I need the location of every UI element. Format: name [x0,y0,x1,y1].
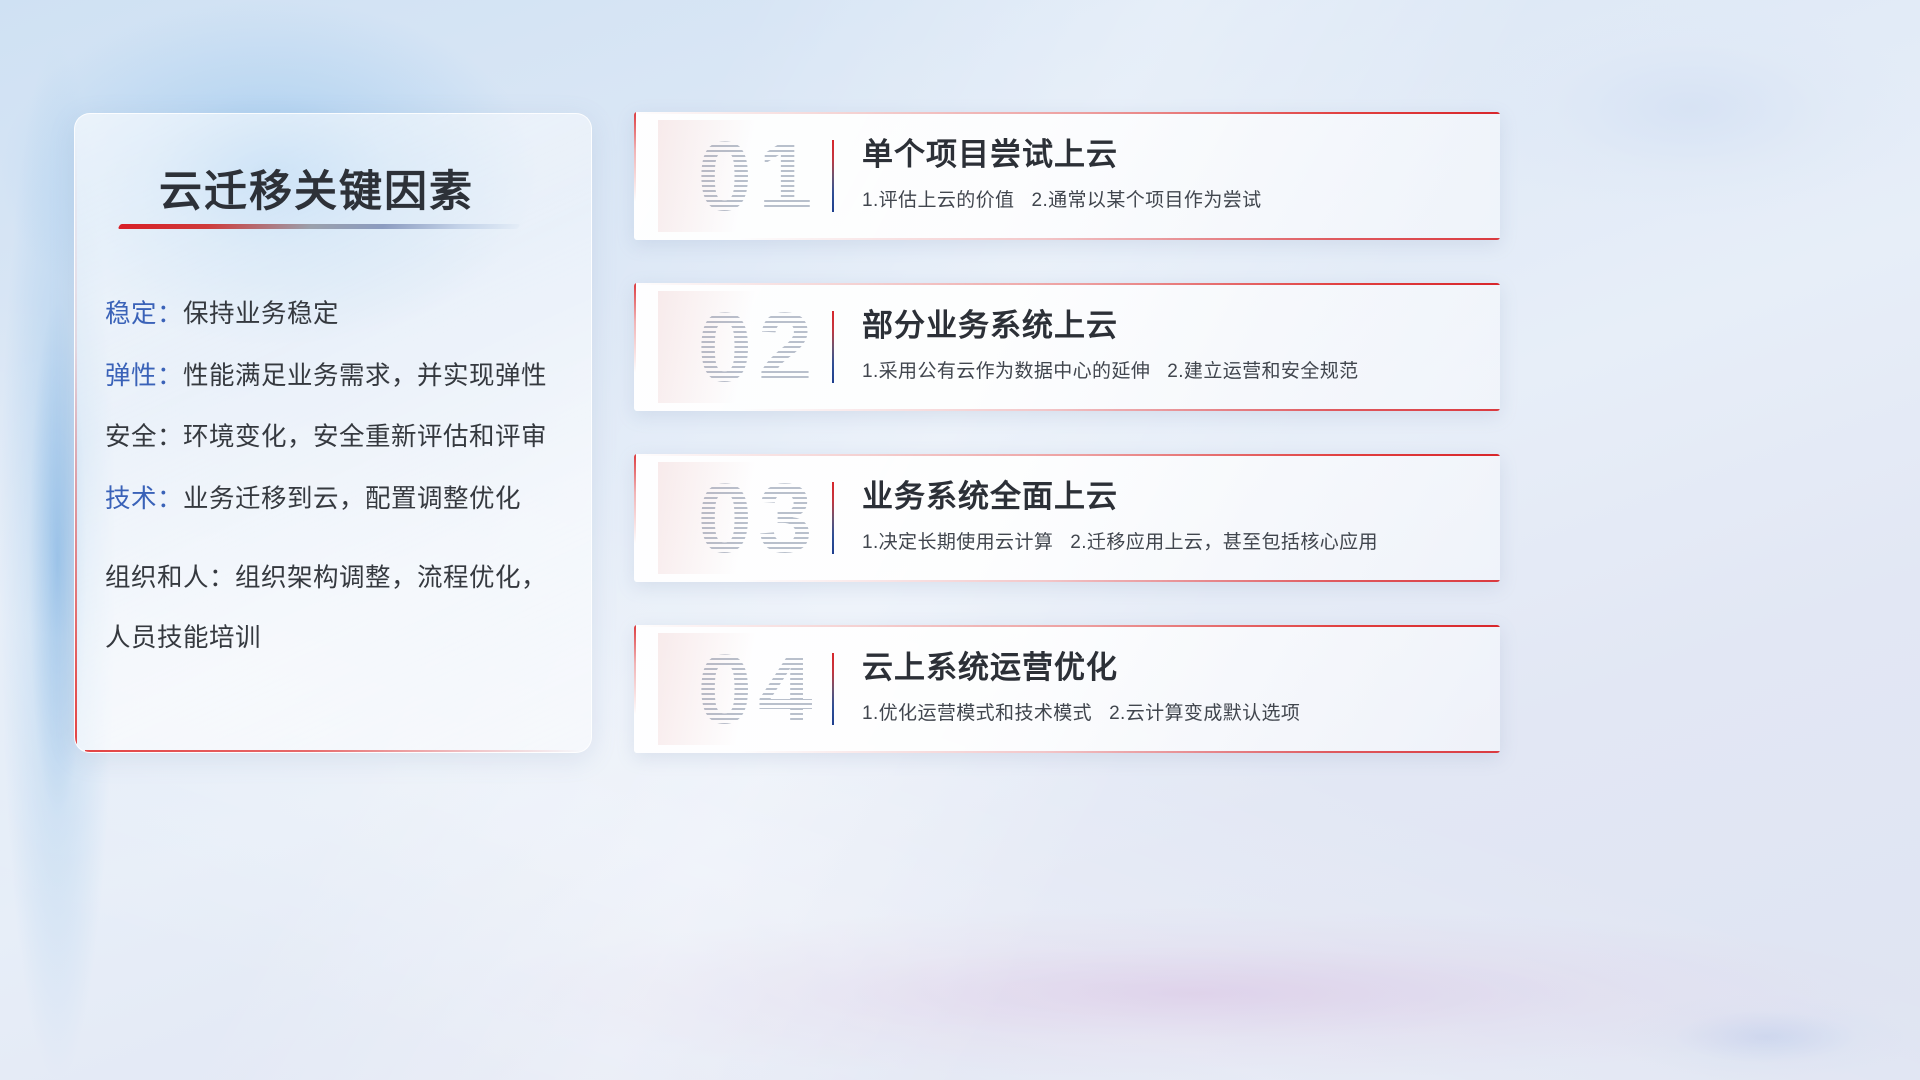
card-title: 业务系统全面上云 [862,478,1472,517]
page-title: 云迁移关键因素 [159,157,474,219]
card-bottom-accent-bar [738,580,1500,582]
card-bottom-accent-bar [738,238,1500,240]
stage-card-03[interactable]: 03 业务系统全面上云 1.决定长期使用云计算 2.迁移应用上云，甚至包括核心应… [634,454,1500,582]
card-title: 部分业务系统上云 [862,307,1472,346]
card-title: 云上系统运营优化 [862,649,1472,688]
card-bottom-accent-bar [738,751,1500,753]
card-divider-bar [832,140,834,212]
card-body: 云上系统运营优化 1.优化运营模式和技术模式 2.云计算变成默认选项 [862,649,1472,725]
card-number-watermark: 01 [658,120,858,232]
factor-label-security: 安全： [105,423,183,451]
card-top-accent-bar [634,112,1500,114]
factor-text-stability: 保持业务稳定 [183,300,339,328]
card-number-watermark: 04 [658,633,858,745]
card-subtitle: 1.优化运营模式和技术模式 2.云计算变成默认选项 [862,698,1472,725]
panel-left-accent-bar [75,128,77,752]
card-bottom-accent-bar [738,409,1500,411]
factor-text-elasticity: 性能满足业务需求，并实现弹性 [183,362,547,390]
title-underline-gradient [118,224,521,229]
panel-bottom-accent-bar [85,750,581,752]
factor-item-elasticity: 弹性：性能满足业务需求，并实现弹性 [105,364,567,390]
card-body: 业务系统全面上云 1.决定长期使用云计算 2.迁移应用上云，甚至包括核心应用 [862,478,1472,554]
slide-canvas: 云迁移关键因素 稳定：保持业务稳定 弹性：性能满足业务需求，并实现弹性 安全：环… [0,0,1920,1080]
card-subtitle: 1.评估上云的价值 2.通常以某个项目作为尝试 [862,185,1472,212]
card-number-watermark: 02 [658,291,858,403]
card-body: 单个项目尝试上云 1.评估上云的价值 2.通常以某个项目作为尝试 [862,136,1472,212]
factor-label-elasticity: 弹性： [105,362,183,390]
key-factors-panel: 云迁移关键因素 稳定：保持业务稳定 弹性：性能满足业务需求，并实现弹性 安全：环… [74,113,592,753]
factor-item-stability: 稳定：保持业务稳定 [105,302,567,328]
card-subtitle: 1.决定长期使用云计算 2.迁移应用上云，甚至包括核心应用 [862,527,1472,554]
factor-list: 稳定：保持业务稳定 弹性：性能满足业务需求，并实现弹性 安全：环境变化，安全重新… [105,302,567,668]
card-body: 部分业务系统上云 1.采用公有云作为数据中心的延伸 2.建立运营和安全规范 [862,307,1472,383]
factor-item-organization: 组织和人：组织架构调整，流程优化，人员技能培训 [105,548,567,668]
card-left-accent-bar [634,454,636,582]
card-subtitle: 1.采用公有云作为数据中心的延伸 2.建立运营和安全规范 [862,356,1472,383]
card-left-accent-bar [634,625,636,753]
card-title: 单个项目尝试上云 [862,136,1472,175]
stage-card-04[interactable]: 04 云上系统运营优化 1.优化运营模式和技术模式 2.云计算变成默认选项 [634,625,1500,753]
stage-card-02[interactable]: 02 部分业务系统上云 1.采用公有云作为数据中心的延伸 2.建立运营和安全规范 [634,283,1500,411]
factor-text-technology: 业务迁移到云，配置调整优化 [183,485,521,513]
card-number-watermark: 03 [658,462,858,574]
card-top-accent-bar [634,625,1500,627]
factor-label-technology: 技术： [105,485,183,513]
card-left-accent-bar [634,112,636,240]
card-left-accent-bar [634,283,636,411]
factor-text-security: 环境变化，安全重新评估和评审 [183,423,547,451]
stage-card-list: 01 单个项目尝试上云 1.评估上云的价值 2.通常以某个项目作为尝试 02 部… [634,112,1500,796]
stage-card-01[interactable]: 01 单个项目尝试上云 1.评估上云的价值 2.通常以某个项目作为尝试 [634,112,1500,240]
factor-label-stability: 稳定： [105,300,183,328]
card-divider-bar [832,653,834,725]
card-top-accent-bar [634,454,1500,456]
factor-item-technology: 技术：业务迁移到云，配置调整优化 [105,487,567,513]
factor-label-organization: 组织和人： [105,564,235,592]
factor-item-security: 安全：环境变化，安全重新评估和评审 [105,425,567,451]
card-top-accent-bar [634,283,1500,285]
card-divider-bar [832,311,834,383]
card-divider-bar [832,482,834,554]
